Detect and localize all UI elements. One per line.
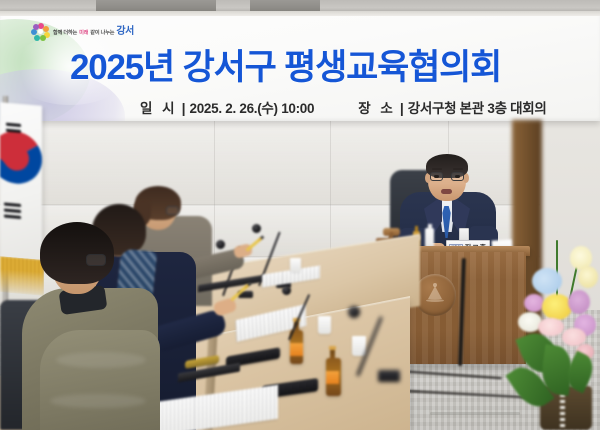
flower-purple-1 [524, 294, 544, 312]
attendee-front-glasses-icon [86, 254, 106, 266]
logo-slogan-2: 미래 [79, 31, 88, 36]
flower-blue-hydrangea [532, 268, 562, 294]
datetime-value: 2025. 2. 26.(수) 10:00 [190, 97, 315, 117]
microphone-head-front-2 [348, 306, 360, 318]
location-separator: | [400, 100, 404, 116]
banner-frame [0, 11, 600, 16]
flower-arrangement [516, 236, 600, 430]
wall-panel-upper [0, 118, 600, 206]
flag-fringe [0, 256, 44, 296]
banner-info-location: 장 소 | 강서구청 본관 3층 대회의 [358, 97, 546, 117]
datetime-separator: | [182, 100, 186, 116]
speaker-eye-left [434, 175, 439, 178]
banner-title: 2025년 강서구 평생교육협의회 [70, 39, 501, 90]
logo-brand: 강서 [116, 27, 134, 37]
carpet-pattern-2 [430, 412, 520, 415]
location-label: 장 소 [358, 97, 396, 117]
attendee-front-hair [40, 222, 114, 284]
flower-logo-icon [32, 23, 49, 40]
cup-front-1 [318, 316, 331, 334]
flower-yellow-top [578, 266, 598, 288]
trigram-bar-2 [4, 209, 21, 213]
trigram-bar-3 [4, 215, 21, 219]
south-korean-flag [0, 102, 42, 271]
gangseo-gu-logo: 함께 더하는 미래 같이 나누는 강서 [32, 23, 134, 40]
flower-pink-cluster [538, 318, 564, 336]
jacket-fold-2 [50, 394, 146, 408]
speaker-brow-right [453, 168, 463, 170]
banner-info-datetime: 일 시 | 2025. 2. 26.(수) 10:00 [140, 97, 314, 117]
location-value: 강서구청 본관 3층 대회의 [408, 97, 547, 117]
speaker-brow-left [432, 168, 442, 170]
attendee-back-glasses-icon [166, 206, 179, 215]
flower-purple-2 [568, 290, 590, 314]
microphone-head-front-1 [282, 286, 291, 295]
taeguk-symbol [0, 122, 42, 193]
trigram-bar-1 [4, 203, 21, 207]
attendee-front-sleeve [40, 330, 160, 430]
trigram-bar-4 [6, 123, 21, 127]
cup-back [290, 258, 301, 272]
microphone-head-back-2 [216, 240, 225, 249]
event-banner: 함께 더하는 미래 같이 나누는 강서 2025년 강서구 평생교육협의회 일 … [0, 11, 600, 121]
microphone-head-back-1 [252, 224, 261, 233]
microphone-base-front-2 [378, 370, 400, 382]
podium-emblem [414, 274, 456, 316]
gangseo-emblem-icon [425, 284, 445, 304]
beverage-bottle-2 [326, 358, 341, 396]
photo-scene: 함께 더하는 미래 같이 나누는 강서 2025년 강서구 평생교육협의회 일 … [0, 0, 600, 430]
banner-info-row: 일 시 | 2025. 2. 26.(수) 10:00 장 소 | 강서구청 본… [140, 97, 547, 117]
logo-slogan-1: 함께 더하는 [53, 31, 77, 36]
datetime-label: 일 시 [140, 97, 178, 117]
jacket-fold-1 [56, 352, 146, 368]
logo-slogan-3: 같이 나누는 [90, 31, 114, 36]
speaker-mouth [441, 189, 452, 194]
speaker-eye-right [455, 175, 460, 178]
